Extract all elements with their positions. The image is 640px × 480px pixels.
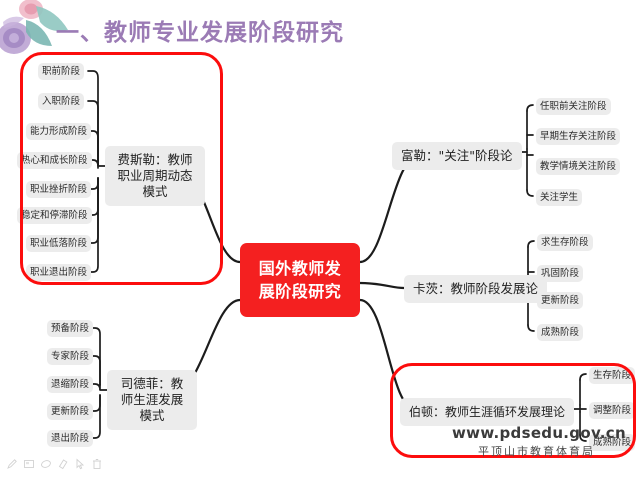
leaf-node[interactable]: 职业挫折阶段 <box>26 181 91 198</box>
leaf-node[interactable]: 退缩阶段 <box>47 376 93 393</box>
central-topic-line2: 展阶段研究 <box>259 280 342 303</box>
annotation-toolbar[interactable] <box>6 458 103 470</box>
leaf-node[interactable]: 稳定和停滞阶段 <box>17 207 92 224</box>
leaf-node[interactable]: 求生存阶段 <box>537 234 593 251</box>
branch-node-fuller[interactable]: 富勒："关注"阶段论 <box>392 142 522 170</box>
leaf-node[interactable]: 生存阶段 <box>589 367 635 384</box>
branch-node-katz[interactable]: 卡茨：教师阶段发展论 <box>404 275 547 303</box>
leaf-node[interactable]: 更新阶段 <box>537 292 583 309</box>
branch-node-steffy[interactable]: 司德菲：教师生涯发展模式 <box>107 370 197 430</box>
leaf-node[interactable]: 职业低落阶段 <box>26 235 91 252</box>
central-topic-line1: 国外教师发 <box>259 257 342 280</box>
leaf-node[interactable]: 预备阶段 <box>47 320 93 337</box>
trash-icon[interactable] <box>91 458 103 470</box>
branch-node-fessler[interactable]: 费斯勒：教师职业周期动态模式 <box>105 146 205 206</box>
watermark-url: www.pdsedu.gov.cn <box>452 424 626 442</box>
eraser-icon[interactable] <box>57 458 69 470</box>
leaf-node[interactable]: 能力形成阶段 <box>26 123 91 140</box>
slide-icon[interactable] <box>23 458 35 470</box>
pointer-icon[interactable] <box>74 458 86 470</box>
slide-canvas: 一、教师专业发展阶段研究 <box>0 0 640 480</box>
central-topic-node[interactable]: 国外教师发 展阶段研究 <box>240 243 360 317</box>
leaf-node[interactable]: 成熟阶段 <box>537 324 583 341</box>
leaf-node[interactable]: 调整阶段 <box>589 402 635 419</box>
leaf-node[interactable]: 教学情境关注阶段 <box>536 158 620 175</box>
watermark-org: 平顶山市教育体育局 <box>478 443 595 459</box>
leaf-node[interactable]: 退出阶段 <box>47 430 93 447</box>
leaf-node[interactable]: 巩固阶段 <box>537 265 583 282</box>
leaf-node[interactable]: 职业退出阶段 <box>26 264 91 281</box>
leaf-node[interactable]: 早期生存关注阶段 <box>536 128 620 145</box>
leaf-node[interactable]: 任职前关注阶段 <box>536 98 611 115</box>
branch-node-burden[interactable]: 伯顿：教师生涯循环发展理论 <box>400 398 574 426</box>
leaf-node[interactable]: 关注学生 <box>536 189 582 206</box>
leaf-node[interactable]: 入职阶段 <box>38 93 84 110</box>
leaf-node[interactable]: 职前阶段 <box>38 63 84 80</box>
leaf-node[interactable]: 更新阶段 <box>47 403 93 420</box>
leaf-node[interactable]: 热心和成长阶段 <box>17 152 92 169</box>
ellipse-icon[interactable] <box>40 458 52 470</box>
leaf-node[interactable]: 专家阶段 <box>47 348 93 365</box>
pen-icon[interactable] <box>6 458 18 470</box>
